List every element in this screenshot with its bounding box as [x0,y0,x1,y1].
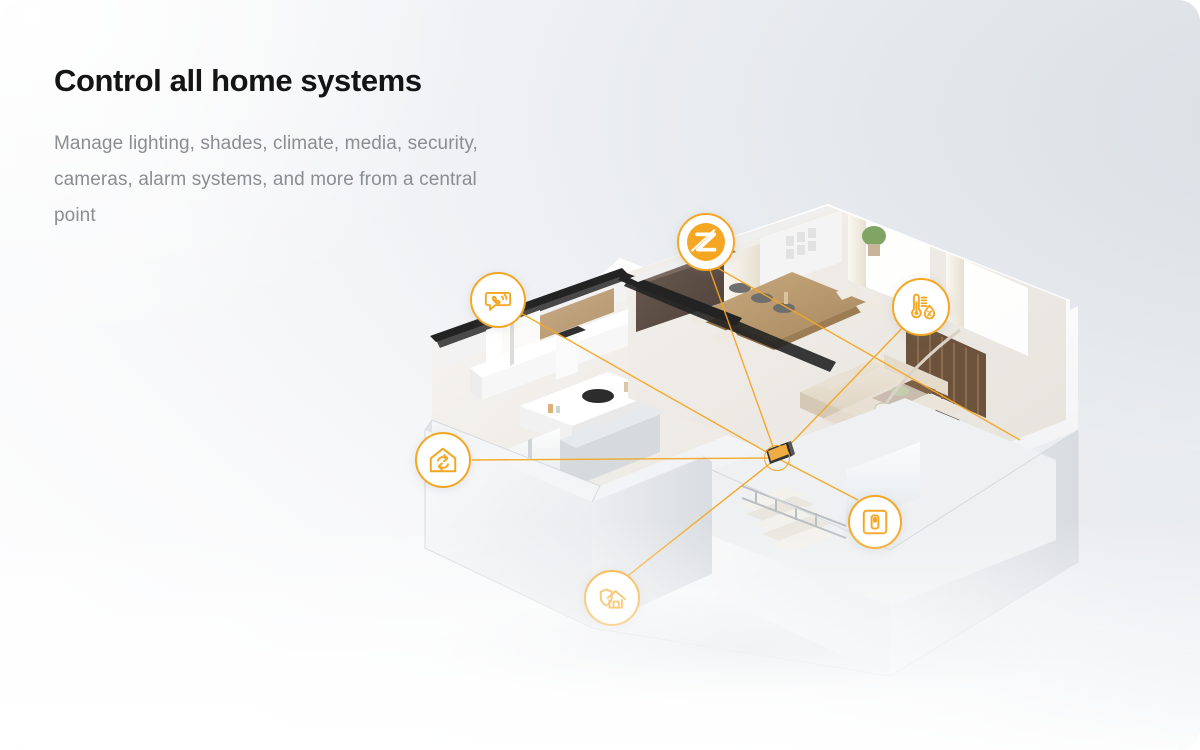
plant-pot [868,244,880,256]
zigbee-icon [686,222,726,262]
hub-highlight-ring [764,445,790,471]
hob [582,389,614,403]
table-vase [784,292,788,304]
temperature-humidity-icon [904,290,938,324]
badge-zigbee[interactable] [677,213,735,271]
home-automation-icon [427,444,459,476]
badge-climate[interactable] [892,278,950,336]
plant-foliage [862,226,886,246]
prop-1 [548,404,553,413]
curtain-right-a [848,212,866,288]
background-floor-glow [0,520,1200,750]
prop-2 [556,406,560,413]
badge-automation[interactable] [415,432,471,488]
copy-block: Control all home systems Manage lighting… [54,62,524,234]
kitchen-window-frame [510,318,514,366]
intercom-icon [483,285,513,315]
page-title: Control all home systems [54,62,524,100]
curtain-right-b [946,252,964,328]
promo-card: Control all home systems Manage lighting… [0,0,1200,750]
page-subtitle: Manage lighting, shades, climate, media,… [54,126,494,234]
badge-intercom[interactable] [470,272,526,328]
